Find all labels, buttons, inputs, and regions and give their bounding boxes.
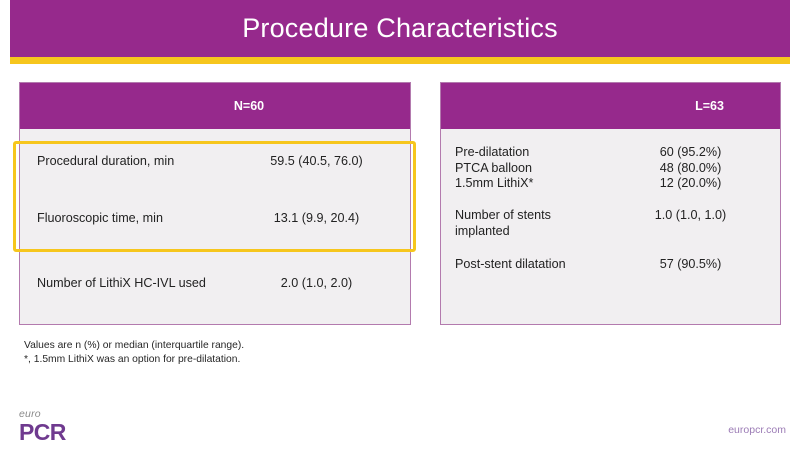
table-row: Procedural duration, min 59.5 (40.5, 76.…: [20, 154, 410, 170]
table-row: Number of stents implanted 1.0 (1.0, 1.0…: [441, 208, 780, 239]
row-label: Fluoroscopic time, min: [20, 211, 235, 227]
row-value: 59.5 (40.5, 76.0): [235, 154, 410, 170]
left-table-header-row: N=60: [20, 83, 410, 129]
procedure-duration-table: N=60 Procedural duration, min 59.5 (40.5…: [19, 82, 411, 325]
row-value: 13.1 (9.9, 20.4): [235, 211, 410, 227]
row-label: Procedural duration, min: [20, 154, 235, 170]
table-row: Pre-dilatation PTCA balloon 1.5mm LithiX…: [441, 145, 780, 192]
left-table-body: Procedural duration, min 59.5 (40.5, 76.…: [20, 129, 410, 324]
europcr-logo: euro PCR: [19, 409, 89, 445]
footnote-line: *, 1.5mm LithiX was an option for pre-di…: [24, 353, 444, 367]
left-table-header-n: N=60: [54, 100, 444, 113]
footnote-line: Values are n (%) or median (interquartil…: [24, 339, 444, 353]
row-label: Pre-dilatation PTCA balloon 1.5mm LithiX…: [441, 145, 621, 192]
slide-header-banner: Procedure Characteristics: [10, 0, 790, 57]
row-label: Number of LithiX HC-IVL used: [20, 276, 235, 292]
header-accent-bar: [10, 57, 790, 64]
website-url: europcr.com: [728, 424, 786, 436]
right-table-header-row: L=63: [441, 83, 780, 129]
table-row: Post-stent dilatation 57 (90.5%): [441, 257, 780, 273]
right-table-header-l: L=63: [540, 100, 800, 113]
row-value: 57 (90.5%): [621, 257, 780, 273]
row-label: Number of stents implanted: [441, 208, 621, 239]
right-table-body: Pre-dilatation PTCA balloon 1.5mm LithiX…: [441, 129, 780, 324]
row-value: 1.0 (1.0, 1.0): [621, 208, 780, 224]
footnotes: Values are n (%) or median (interquartil…: [24, 339, 444, 366]
page-title: Procedure Characteristics: [242, 15, 558, 42]
row-label: Post-stent dilatation: [441, 257, 621, 273]
row-value: 2.0 (1.0, 2.0): [235, 276, 410, 292]
table-row: Number of LithiX HC-IVL used 2.0 (1.0, 2…: [20, 276, 410, 292]
logo-pcr-text: PCR: [19, 421, 89, 444]
lesion-procedure-table: L=63 Pre-dilatation PTCA balloon 1.5mm L…: [440, 82, 781, 325]
table-row: Fluoroscopic time, min 13.1 (9.9, 20.4): [20, 211, 410, 227]
row-value: 60 (95.2%) 48 (80.0%) 12 (20.0%): [621, 145, 780, 192]
